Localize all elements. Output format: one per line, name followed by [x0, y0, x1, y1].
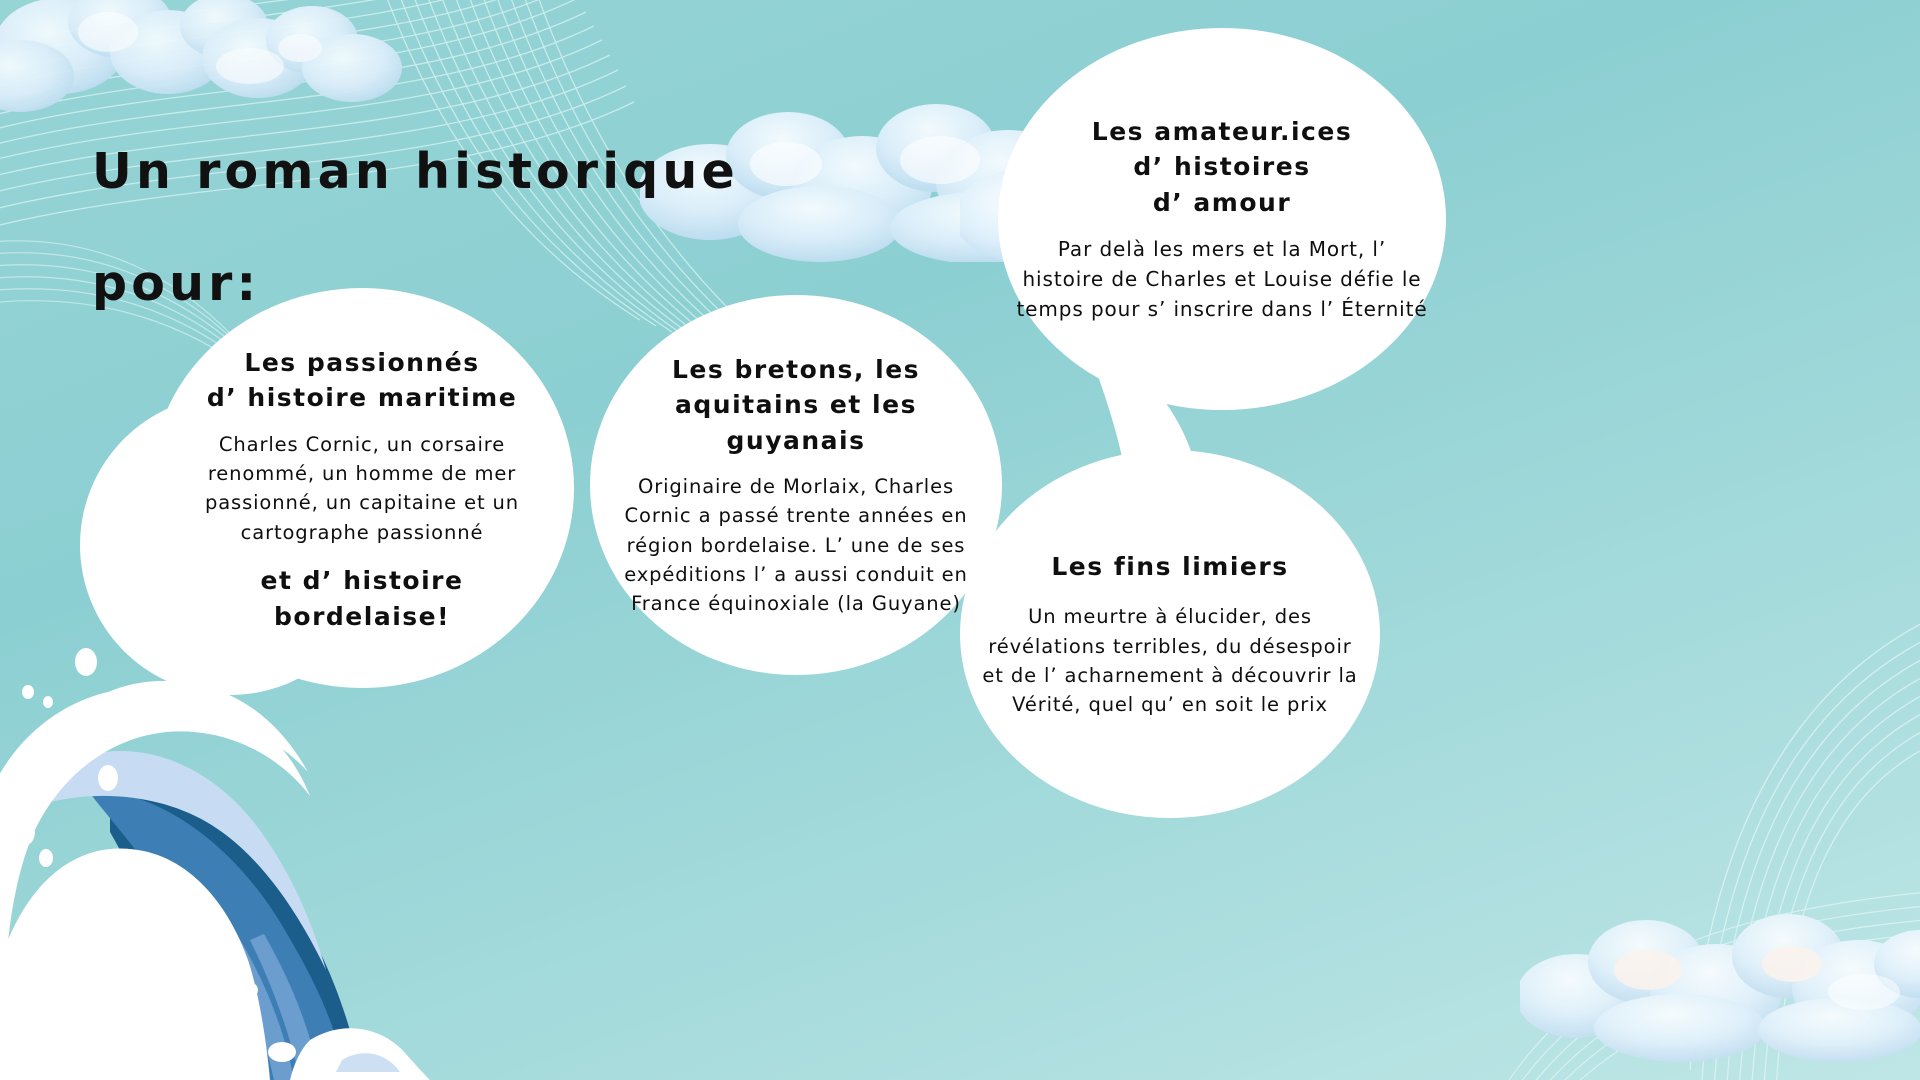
bubble-bretons-aquitains-guyanais: Les bretons, les aquitains et les guyana…	[590, 295, 1002, 675]
bubble-body: Originaire de Morlaix, Charles Cornic a …	[614, 472, 978, 618]
bubble-title: Les amateur.ices d’ histoires d’ amour	[1092, 114, 1352, 221]
bubble-body: Un meurtre à élucider, des révélations t…	[982, 602, 1358, 719]
bubble-fins-limiers: Les fins limiers Un meurtre à élucider, …	[960, 450, 1380, 818]
bubble-body-strong: et d’ histoire bordelaise!	[180, 563, 544, 636]
bubble-body: Par delà les mers et la Mort, l’ histoir…	[1016, 234, 1428, 324]
slide-canvas: Un roman historique pour: Les passionnés…	[0, 0, 1920, 1080]
page-title: Un roman historique pour:	[92, 116, 832, 339]
bubble-title: Les bretons, les aquitains et les guyana…	[614, 352, 978, 459]
bubble-title: Les fins limiers	[1051, 549, 1288, 585]
bubble-body: Charles Cornic, un corsaire renommé, un …	[180, 430, 544, 547]
bubble-passionnes-histoire-maritime: Les passionnés d’ histoire maritime Char…	[150, 288, 574, 688]
cloud-cluster-top-left-icon	[0, 0, 420, 126]
bubble-title: Les passionnés d’ histoire maritime	[207, 345, 517, 416]
cloud-cluster-bottom-right-icon	[1520, 864, 1920, 1064]
bubble-amateurices-histoires-amour: Les amateur.ices d’ histoires d’ amour P…	[998, 28, 1446, 410]
